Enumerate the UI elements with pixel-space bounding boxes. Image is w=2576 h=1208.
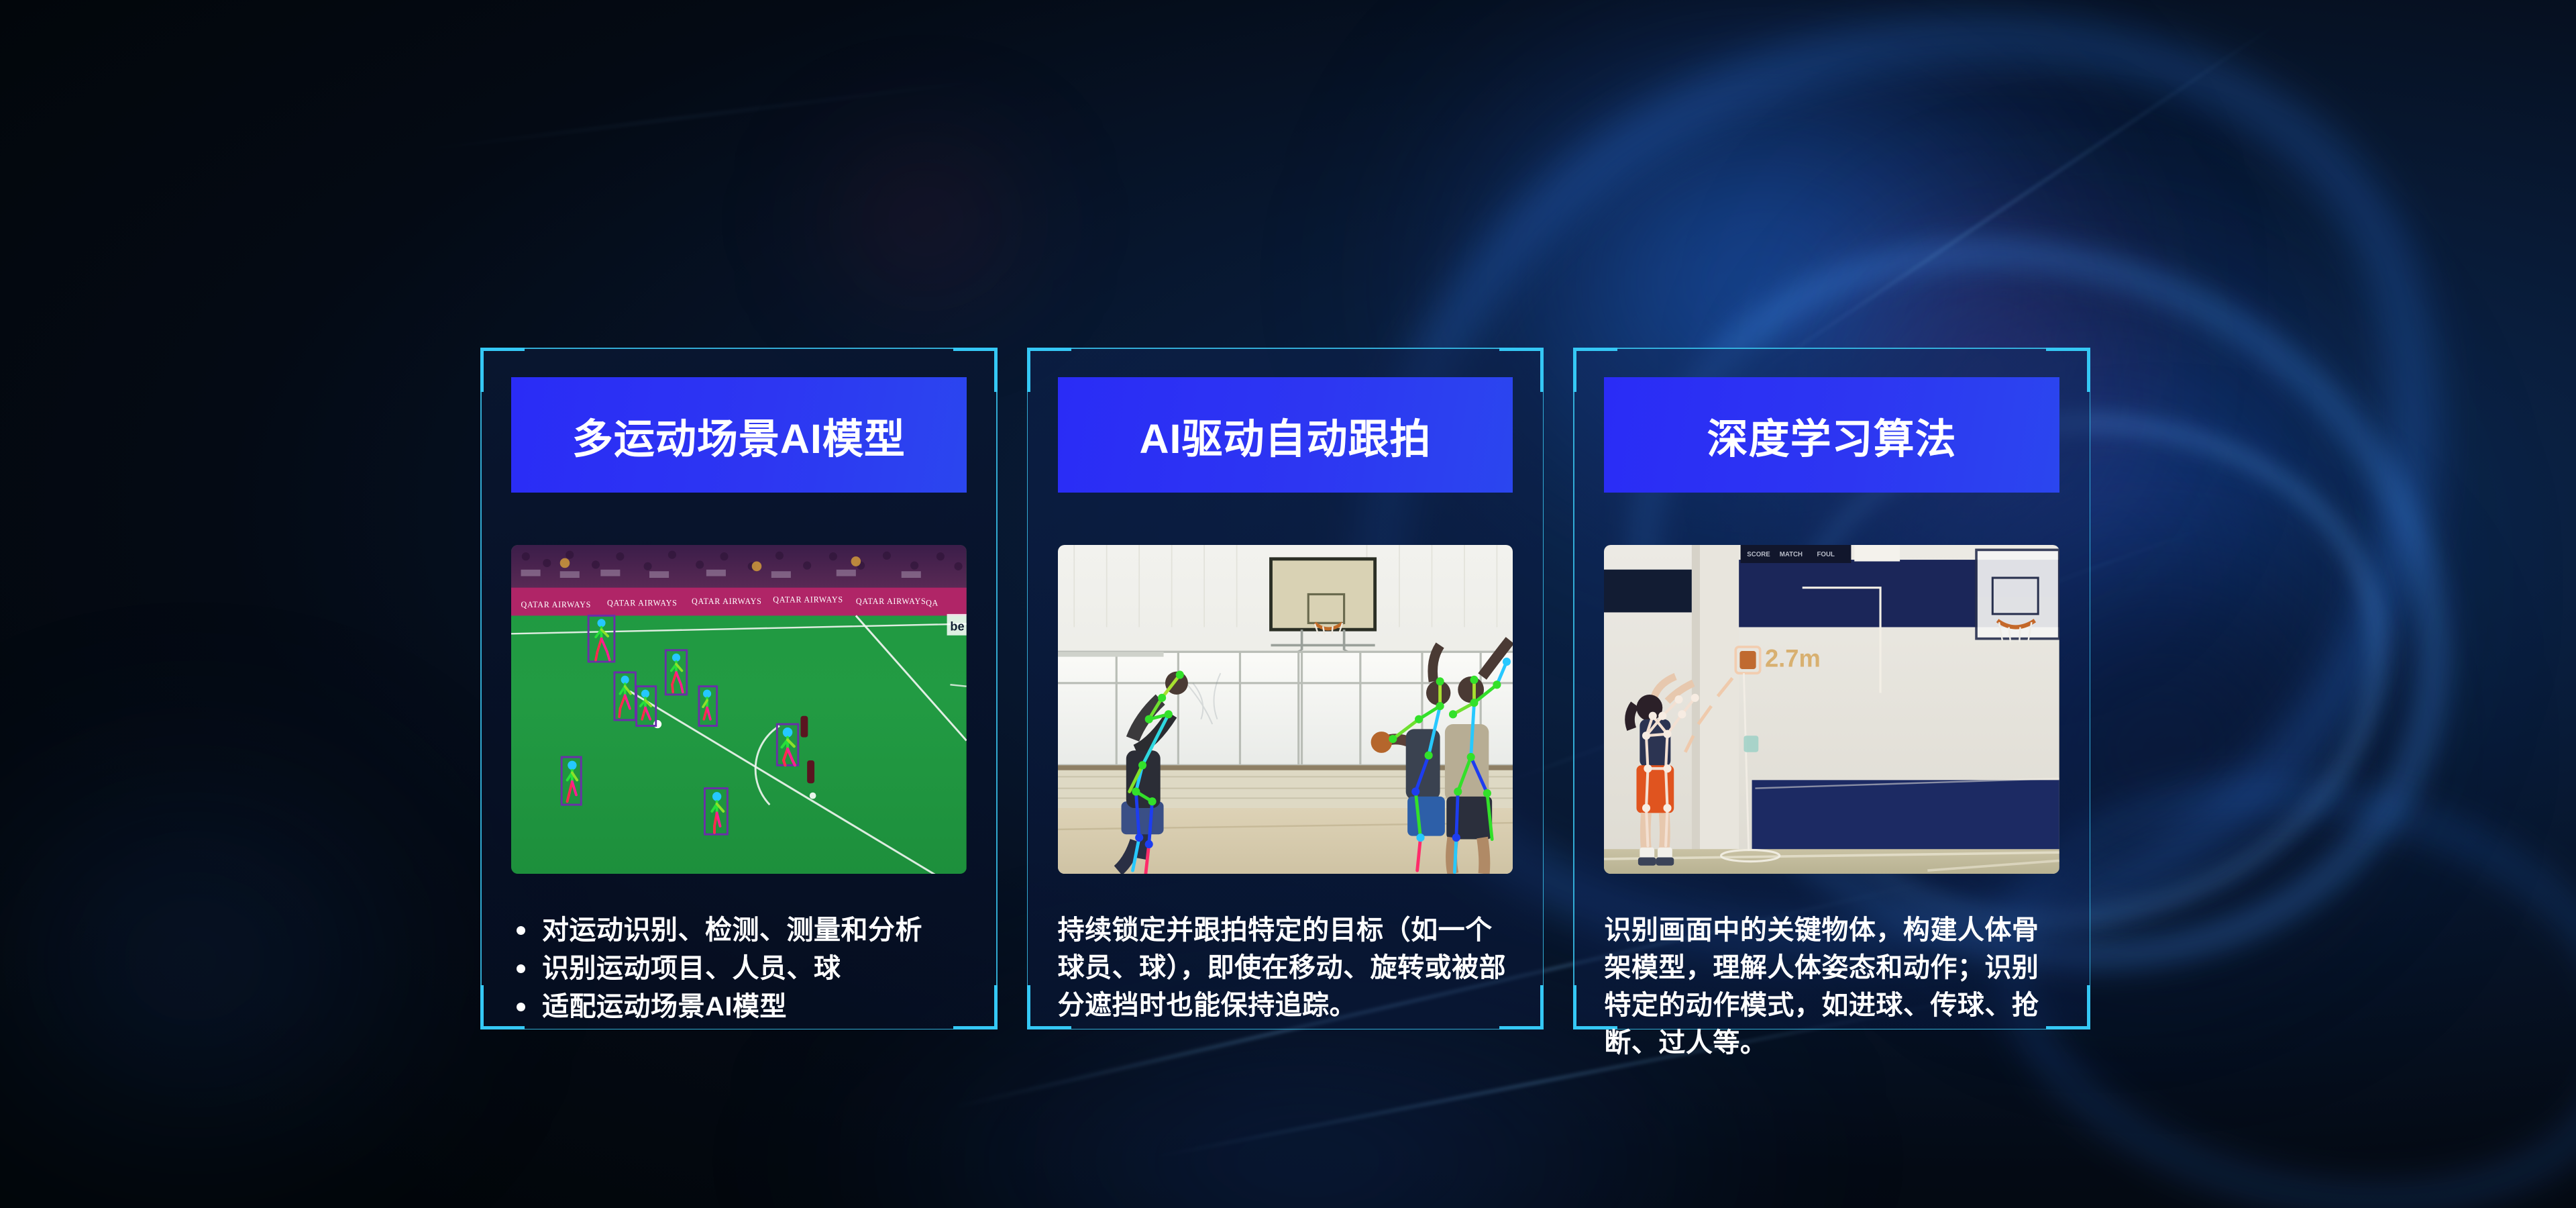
- measurement-label: 2.7m: [1765, 644, 1821, 672]
- svg-text:SCORE: SCORE: [1748, 551, 1771, 558]
- glow-magenta-small: [751, 81, 1100, 362]
- glow-left: [0, 658, 563, 1208]
- feature-bullet-list: 对运动识别、检测、测量和分析 识别运动项目、人员、球 适配运动场景AI模型: [511, 911, 967, 1025]
- card-body-text: 持续锁定并跟拍特定的目标（如一个球员、球），即使在移动、旋转或被部分遮挡时也能保…: [1058, 911, 1513, 1024]
- slide-canvas: 多运动场景AI模型: [0, 0, 2576, 1208]
- card-frame-left: [1573, 348, 1574, 1029]
- card-frame-right: [1543, 348, 1544, 1029]
- feature-card-ai-auto-tracking[interactable]: AI驱动自动跟拍: [1027, 348, 1544, 1029]
- svg-text:be: be: [950, 619, 964, 633]
- card-frame-bottom: [480, 1029, 998, 1030]
- svg-text:QATAR AIRWAYS: QATAR AIRWAYS: [521, 600, 592, 609]
- basketball-pose-tracking-image: [1058, 545, 1513, 874]
- card-frame-left: [480, 348, 482, 1029]
- card-frame-top: [1573, 348, 2090, 349]
- card-content: AI驱动自动跟拍: [1058, 377, 1513, 1007]
- card-title-banner: 深度学习算法: [1604, 377, 2059, 493]
- light-streak-5: [405, 77, 1004, 153]
- svg-text:QATAR AIRWAYS: QATAR AIRWAYS: [692, 597, 762, 606]
- card-body-text: 识别画面中的关键物体，构建人体骨架模型，理解人体姿态和动作；识别特定的动作模式，…: [1604, 911, 2059, 1062]
- card-title: 多运动场景AI模型: [572, 405, 906, 465]
- feature-card-multi-sport-ai-model[interactable]: 多运动场景AI模型: [480, 348, 998, 1029]
- svg-text:QA: QA: [926, 599, 938, 608]
- feature-card-row: 多运动场景AI模型: [480, 348, 2090, 1029]
- card-title: 深度学习算法: [1707, 405, 1957, 465]
- card-content: 深度学习算法: [1604, 377, 2059, 1007]
- svg-text:MATCH: MATCH: [1780, 551, 1803, 558]
- card-frame-top: [480, 348, 998, 349]
- svg-text:QATAR AIRWAYS: QATAR AIRWAYS: [607, 599, 678, 608]
- list-item: 适配运动场景AI模型: [511, 988, 967, 1026]
- list-item: 对运动识别、检测、测量和分析: [511, 911, 967, 950]
- card-title-banner: 多运动场景AI模型: [511, 377, 967, 493]
- list-item: 识别运动项目、人员、球: [511, 950, 967, 988]
- light-streak-3: [1734, 14, 2292, 391]
- card-frame-right: [996, 348, 998, 1029]
- card-title: AI驱动自动跟拍: [1140, 405, 1432, 465]
- svg-text:QATAR AIRWAYS: QATAR AIRWAYS: [773, 595, 843, 605]
- svg-text:FOUL: FOUL: [1817, 551, 1835, 558]
- card-frame-top: [1027, 348, 1544, 349]
- card-frame-right: [2090, 348, 2091, 1029]
- card-content: 多运动场景AI模型: [511, 377, 967, 1007]
- basketball-shot-measurement-image: SCORE MATCH FOUL: [1604, 545, 2059, 874]
- card-frame-bottom: [1027, 1029, 1544, 1030]
- card-frame-left: [1027, 348, 1028, 1029]
- soccer-pose-detection-image: QATAR AIRWAYS QATAR AIRWAYS QATAR AIRWAY…: [511, 545, 967, 874]
- feature-card-deep-learning-algorithm[interactable]: 深度学习算法: [1573, 348, 2090, 1029]
- svg-text:QATAR AIRWAYS: QATAR AIRWAYS: [856, 597, 926, 606]
- card-title-banner: AI驱动自动跟拍: [1058, 377, 1513, 493]
